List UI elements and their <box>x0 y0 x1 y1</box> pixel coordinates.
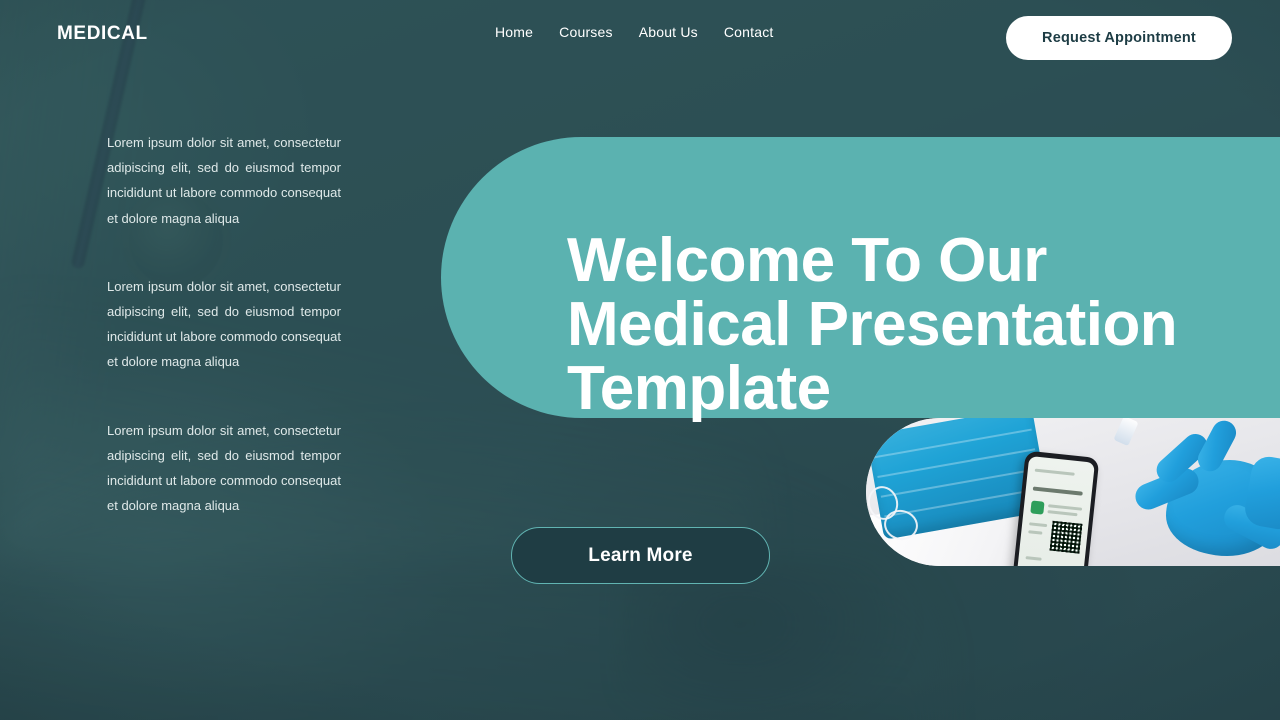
feature-paragraph-1: Lorem ipsum dolor sit amet, consectetur … <box>107 130 341 231</box>
phone-screen-health-pass <box>1015 456 1095 566</box>
nav-item-about-us[interactable]: About Us <box>639 24 698 40</box>
nav-item-contact[interactable]: Contact <box>724 24 774 40</box>
feature-paragraph-3: Lorem ipsum dolor sit amet, consectetur … <box>107 418 341 519</box>
qr-code-icon <box>1050 521 1083 554</box>
nav-item-courses[interactable]: Courses <box>559 24 613 40</box>
feature-paragraph-2: Lorem ipsum dolor sit amet, consectetur … <box>107 274 341 375</box>
site-header: MEDICAL Home Courses About Us Contact Re… <box>0 0 1280 70</box>
nav-item-home[interactable]: Home <box>495 24 533 40</box>
hero-headline: Welcome To Our Medical Presentation Temp… <box>567 229 1227 421</box>
smartphone-icon <box>1011 451 1100 566</box>
verified-badge-icon <box>1030 500 1044 514</box>
learn-more-button[interactable]: Learn More <box>511 527 770 584</box>
logo[interactable]: MEDICAL <box>57 23 148 45</box>
main-navigation: Home Courses About Us Contact <box>495 24 774 40</box>
request-appointment-button[interactable]: Request Appointment <box>1006 16 1232 60</box>
hero-photo-card-ppe <box>866 418 1280 566</box>
feature-text-column: Lorem ipsum dolor sit amet, consectetur … <box>107 130 341 518</box>
hero-headline-panel: Welcome To Our Medical Presentation Temp… <box>441 137 1280 418</box>
slide-canvas: MEDICAL Home Courses About Us Contact Re… <box>0 0 1280 720</box>
